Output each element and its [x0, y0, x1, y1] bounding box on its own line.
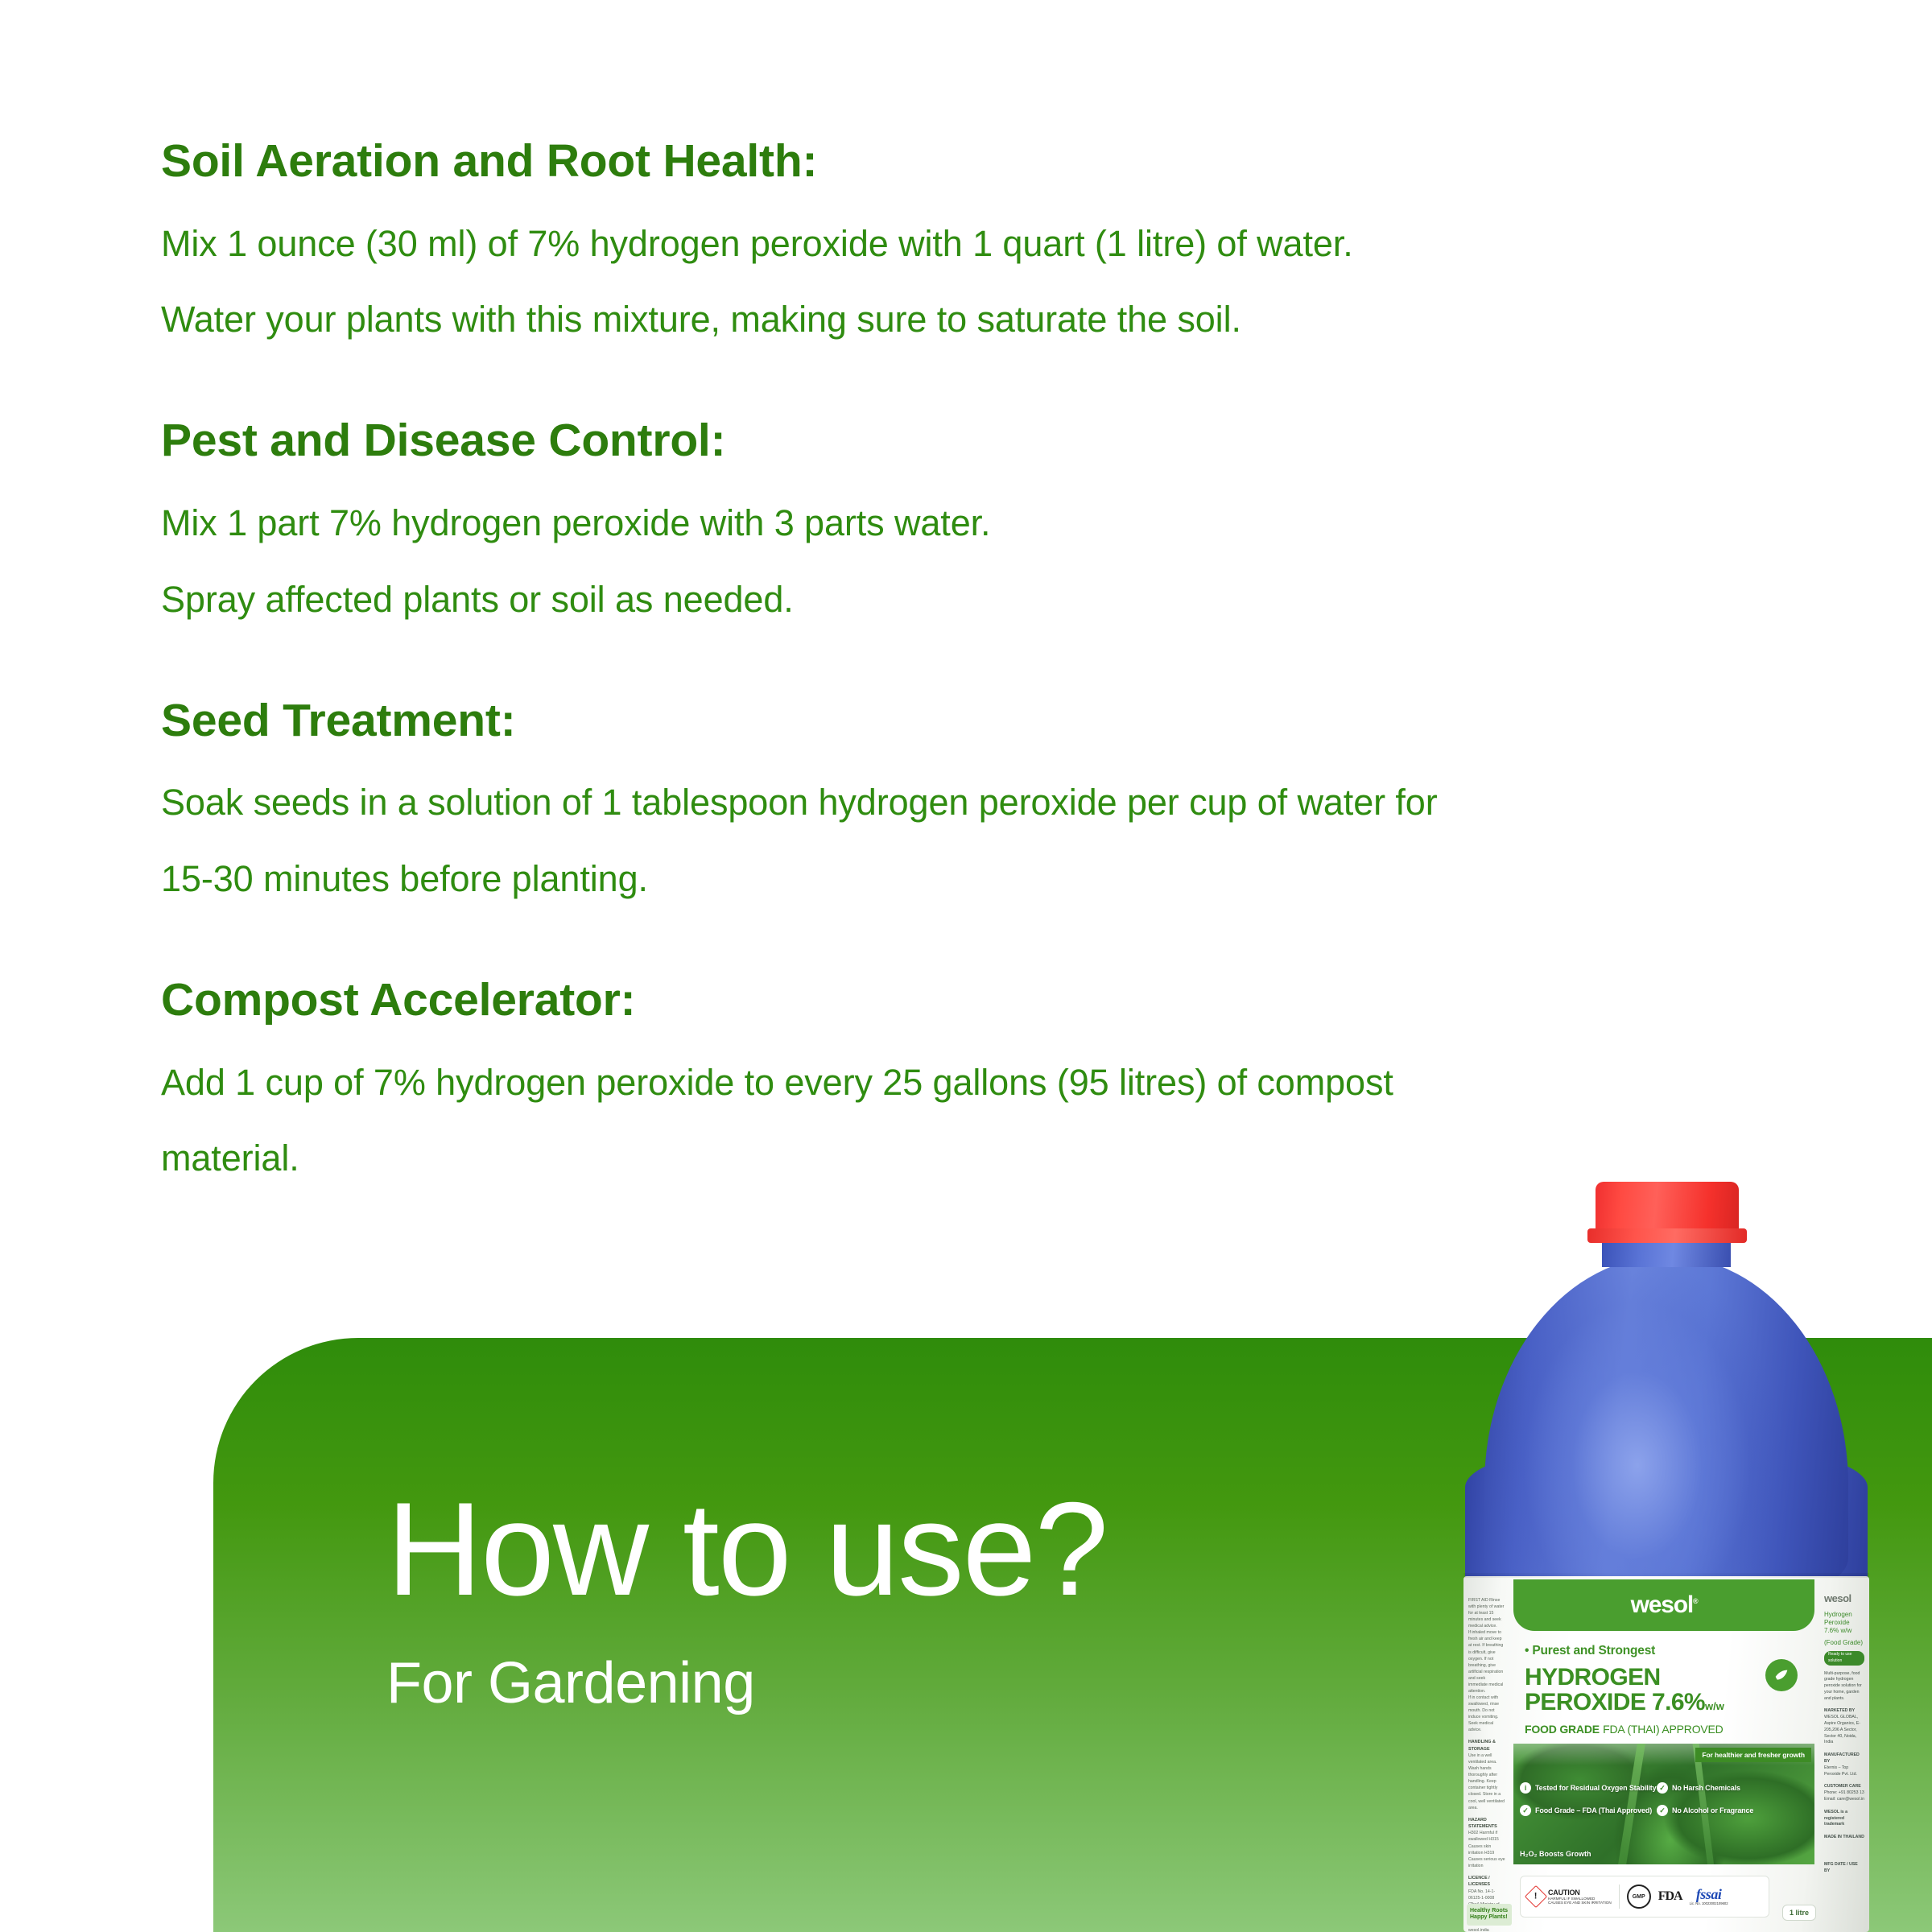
label-leaf-artwork: For healthier and fresher growth i Teste…: [1513, 1744, 1814, 1864]
section-seed-treatment: Seed Treatment: Soak seeds in a solution…: [161, 696, 1868, 902]
bottle-neck: [1602, 1240, 1731, 1267]
feature-item: ✓ No Alcohol or Fragrance: [1657, 1805, 1753, 1816]
label-swallow-text: If in contact with swallowed, rinse mout…: [1468, 1695, 1505, 1733]
section-soil-aeration: Soil Aeration and Root Health: Mix 1 oun…: [161, 137, 1868, 342]
label-hazards-text: H302 Harmful if swallowed H315 Causes sk…: [1468, 1830, 1505, 1868]
feature-label: Tested for Residual Oxygen Stability: [1535, 1784, 1656, 1792]
fssai-license-number: Lic. No. 10023002109602: [1690, 1902, 1728, 1905]
brand-registered-mark: ®: [1693, 1597, 1697, 1605]
side-trademark-text: WESOL is a registered trademark: [1824, 1810, 1864, 1828]
label-social: wesol.india: [1468, 1927, 1505, 1932]
label-boost-note: H₂O₂ Boosts Growth: [1520, 1850, 1591, 1858]
bottle-cap-ring: [1587, 1228, 1747, 1243]
feature-item: i Tested for Residual Oxygen Stability: [1520, 1782, 1656, 1794]
label-side-panel-right: wesol Hydrogen Peroxide 7.6% w/w (Food G…: [1819, 1576, 1869, 1932]
feature-item: ✓ No Harsh Chemicals: [1657, 1782, 1740, 1794]
label-roots-line2: Happy Plants!: [1470, 1914, 1509, 1922]
section-line: Soak seeds in a solution of 1 tablespoon…: [161, 781, 1739, 825]
section-line: Spray affected plants or soil as needed.: [161, 578, 1739, 622]
side-mfg-useby-title: MFG DATE / USE BY: [1824, 1862, 1864, 1875]
side-marketed-title: MARKETED BY: [1824, 1708, 1864, 1715]
label-tagline: • Purest and Strongest: [1525, 1644, 1655, 1658]
side-brand-logo: wesol: [1824, 1591, 1864, 1607]
feature-label: No Harsh Chemicals: [1672, 1784, 1740, 1792]
label-hazards-title: HAZARD STATEMENTS: [1468, 1817, 1505, 1831]
poster-canvas: Soil Aeration and Root Health: Mix 1 oun…: [0, 0, 1932, 1932]
fda-approval-text: FDA (THAI) APPROVED: [1603, 1723, 1723, 1736]
side-heading-line2: (Food Grade): [1824, 1639, 1864, 1647]
section-title: Compost Accelerator:: [161, 976, 1868, 1026]
brand-name: wesol: [1631, 1591, 1693, 1618]
gmp-certification-icon: GMP: [1627, 1885, 1651, 1909]
label-volume-badge: 1 litre: [1782, 1905, 1816, 1921]
leaf-icon: ✓: [1520, 1805, 1531, 1816]
feature-label: No Alcohol or Fragrance: [1672, 1806, 1753, 1814]
section-line: Water your plants with this mixture, mak…: [161, 298, 1739, 342]
label-inhale-text: If inhaled move to fresh air and keep at…: [1468, 1629, 1505, 1695]
product-label: FIRST AID Rinse with plenty of water for…: [1463, 1576, 1869, 1932]
label-roots-badge: Healthy Roots Happy Plants!: [1467, 1904, 1512, 1926]
label-front-face: wesol® • Purest and Strongest HYDROGEN P…: [1509, 1576, 1819, 1932]
label-food-grade: FOOD GRADE FDA (THAI) APPROVED: [1525, 1723, 1724, 1737]
section-title: Pest and Disease Control:: [161, 416, 1868, 466]
label-storage-text: Use in a well ventilated area. Wash hand…: [1468, 1752, 1505, 1811]
side-mfg-title: MANUFACTURED BY: [1824, 1752, 1864, 1765]
section-line: Add 1 cup of 7% hydrogen peroxide to eve…: [161, 1061, 1739, 1105]
label-certification-bar: ! CAUTION HARMFUL IF SWALLOWED CAUSES EY…: [1520, 1876, 1769, 1918]
leaf-check-icon: [1765, 1659, 1798, 1691]
side-origin-text: MADE IN THAILAND: [1824, 1835, 1864, 1841]
label-roots-line1: Healthy Roots: [1470, 1908, 1509, 1915]
product-name-line2: PEROXIDE: [1525, 1689, 1645, 1715]
label-side-panel-left: FIRST AID Rinse with plenty of water for…: [1463, 1576, 1509, 1932]
side-marketed-text: WESOL GLOBAL, Aspire Organics, E-205,206…: [1824, 1715, 1864, 1746]
instructions-block: Soil Aeration and Root Health: Mix 1 oun…: [161, 137, 1868, 1181]
section-title: Soil Aeration and Root Health:: [161, 137, 1868, 187]
warning-icon: !: [1525, 1885, 1547, 1908]
label-brand-bar: wesol®: [1513, 1579, 1814, 1631]
feature-item: ✓ Food Grade – FDA (Thai Approved): [1520, 1805, 1652, 1816]
caution-text-group: CAUTION HARMFUL IF SWALLOWED CAUSES EYE …: [1548, 1889, 1612, 1905]
eco-badge: [1758, 1652, 1805, 1699]
caution-title: CAUTION: [1548, 1889, 1612, 1897]
brand-logo: wesol®: [1631, 1591, 1698, 1619]
side-heading-line1: Hydrogen Peroxide 7.6% w/w: [1824, 1611, 1864, 1635]
food-grade-text: FOOD GRADE: [1525, 1723, 1600, 1736]
product-strength: 7.6%: [1652, 1689, 1705, 1715]
hero-subtitle: For Gardening: [386, 1654, 1107, 1712]
product-strength-unit: w/w: [1705, 1700, 1724, 1712]
fssai-certification-icon: fssai Lic. No. 10023002109602: [1690, 1887, 1728, 1905]
section-compost-accelerator: Compost Accelerator: Add 1 cup of 7% hyd…: [161, 976, 1868, 1181]
caution-group: ! CAUTION HARMFUL IF SWALLOWED CAUSES EY…: [1528, 1889, 1612, 1905]
section-pest-disease: Pest and Disease Control: Mix 1 part 7% …: [161, 416, 1868, 621]
section-line: Mix 1 ounce (30 ml) of 7% hydrogen perox…: [161, 222, 1739, 266]
warning-glyph: !: [1534, 1892, 1538, 1901]
info-icon: i: [1520, 1782, 1531, 1794]
label-storage-title: HANDLING & STORAGE: [1468, 1739, 1505, 1752]
bottle-label-seam: [1463, 1573, 1869, 1578]
bottle-shoulder: [1484, 1256, 1848, 1594]
fssai-wordmark: fssai: [1690, 1887, 1728, 1901]
side-ready-to-use-pill: Ready to use solution: [1824, 1651, 1864, 1666]
label-growth-pill: For healthier and fresher growth: [1695, 1748, 1811, 1762]
section-line: 15-30 minutes before planting.: [161, 857, 1739, 902]
fda-certification-icon: FDA: [1658, 1889, 1682, 1904]
hero-text-group: How to use? For Gardening: [386, 1483, 1107, 1712]
section-line: Mix 1 part 7% hydrogen peroxide with 3 p…: [161, 502, 1739, 546]
feature-label: Food Grade – FDA (Thai Approved): [1535, 1806, 1652, 1814]
product-bottle: FIRST AID Rinse with plenty of water for…: [1449, 1175, 1900, 1932]
side-description: Multi-purpose, food grade hydrogen perox…: [1824, 1671, 1864, 1703]
check-icon: ✓: [1657, 1782, 1668, 1794]
section-title: Seed Treatment:: [161, 696, 1868, 746]
hero-title: How to use?: [386, 1483, 1107, 1616]
label-licence-title: LICENCE / LICENSES: [1468, 1875, 1505, 1889]
side-care-text: Phone: +91 80253 13 Email: care@wesol.in: [1824, 1790, 1864, 1803]
check-icon: ✓: [1657, 1805, 1668, 1816]
side-care-title: CUSTOMER CARE: [1824, 1784, 1864, 1790]
bottle-cap: [1596, 1182, 1739, 1235]
divider: [1619, 1885, 1620, 1909]
product-name-line1: HYDROGEN: [1525, 1664, 1661, 1690]
caution-sub2: CAUSES EYE AND SKIN IRRITATION: [1548, 1901, 1612, 1905]
label-first-aid-text: FIRST AID Rinse with plenty of water for…: [1468, 1597, 1505, 1629]
side-mfg-text: Eternis – Top Peroxide Pvt. Ltd.: [1824, 1765, 1864, 1778]
